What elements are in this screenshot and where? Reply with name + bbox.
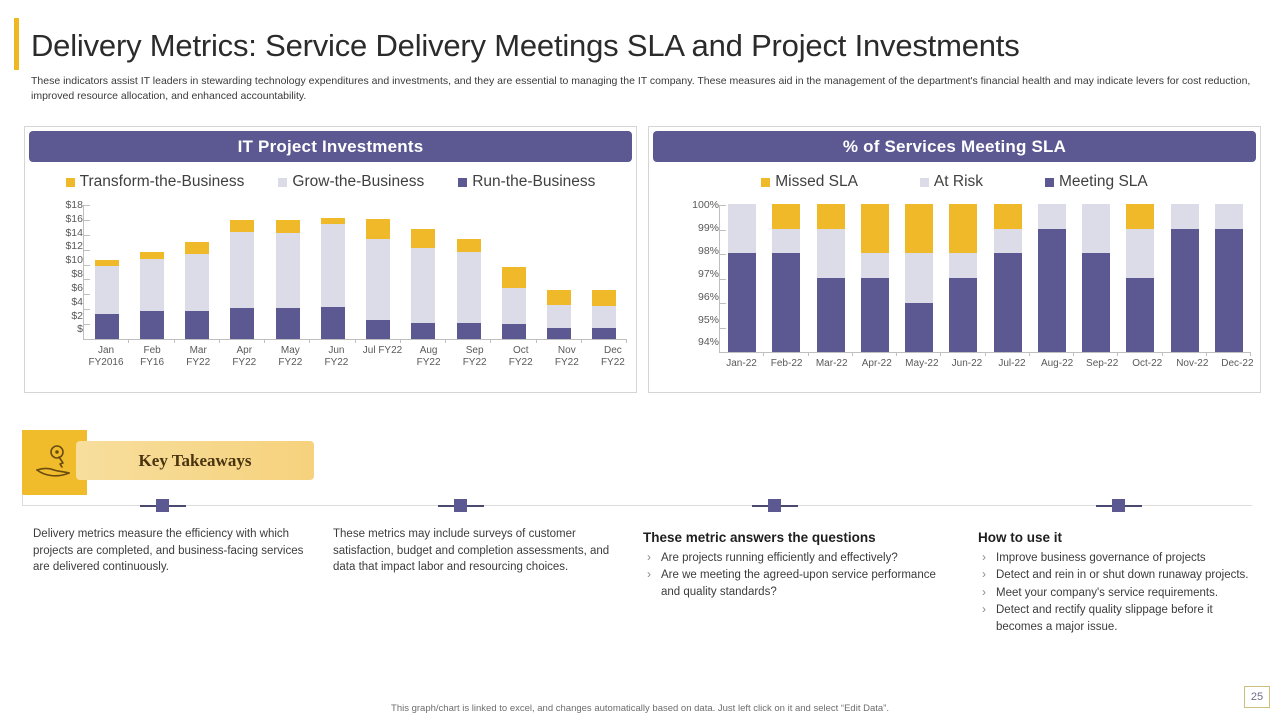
list-item: Meet your company's service requirements… — [978, 585, 1253, 602]
bar-slot — [582, 205, 627, 339]
bar-segment[interactable] — [817, 229, 845, 278]
bar-slot — [764, 205, 808, 352]
y-axis-tick-label: $4 — [71, 297, 83, 308]
bar-slot — [1030, 205, 1074, 352]
bar-segment[interactable] — [1082, 253, 1110, 352]
y-axis-tick-label: 98% — [698, 246, 719, 257]
stacked-bar[interactable] — [1082, 204, 1110, 352]
x-axis-tick-label: DecFY22 — [590, 345, 636, 369]
stacked-bar[interactable] — [185, 242, 209, 340]
stacked-bar[interactable] — [949, 204, 977, 352]
bar-segment[interactable] — [1215, 229, 1243, 352]
bar-slot — [941, 205, 985, 352]
bar-segment[interactable] — [1038, 229, 1066, 352]
bar-segment[interactable] — [994, 253, 1022, 352]
bar-slot — [265, 205, 310, 339]
bar-segment[interactable] — [861, 278, 889, 352]
bar-segment[interactable] — [1038, 204, 1066, 229]
timeline-rule-end-tick — [22, 494, 23, 506]
bar-slot — [1118, 205, 1162, 352]
bar-segment[interactable] — [366, 219, 390, 239]
takeaway-body-1: Delivery metrics measure the efficiency … — [33, 526, 313, 576]
y-axis-tick-label: 96% — [698, 291, 719, 302]
bar-segment[interactable] — [321, 224, 345, 307]
bar-segment[interactable] — [276, 220, 300, 233]
takeaway-heading-3: These metric answers the questions — [643, 530, 943, 547]
x-axis-tick-label: Jul-22 — [989, 358, 1034, 370]
x-axis-tick-label: MarFY22 — [175, 345, 221, 369]
stacked-bar[interactable] — [772, 204, 800, 352]
page-subtitle: These indicators assist IT leaders in st… — [31, 74, 1251, 104]
bar-segment[interactable] — [772, 204, 800, 229]
bar-slot — [310, 205, 355, 339]
bar-slot — [853, 205, 897, 352]
page-number-badge: 25 — [1244, 686, 1270, 708]
bars-container — [719, 205, 1251, 353]
x-axis-tick-label: AprFY22 — [221, 345, 267, 369]
chart-panel-services-meeting-sla: % of Services Meeting SLA Missed SLAAt R… — [648, 126, 1261, 393]
takeaway-body-2: These metrics may include surveys of cus… — [333, 526, 613, 576]
takeaway-column-3: These metric answers the questions Are p… — [643, 530, 943, 601]
bar-segment[interactable] — [994, 229, 1022, 254]
legend-item-transform-the-business: Transform-the-Business — [66, 173, 245, 191]
y-axis-tick-label: $14 — [65, 227, 83, 238]
bar-segment[interactable] — [728, 204, 756, 253]
x-axis-tick-label: JunFY22 — [313, 345, 359, 369]
takeaway-column-1: Delivery metrics measure the efficiency … — [33, 526, 313, 576]
stacked-bar[interactable] — [905, 204, 933, 352]
y-axis-tick-label: $18 — [65, 200, 83, 211]
bar-segment[interactable] — [230, 308, 254, 340]
bar-slot — [897, 205, 941, 352]
x-axis-tick-label: JanFY2016 — [83, 345, 129, 369]
stacked-bar[interactable] — [1038, 204, 1066, 352]
bar-segment[interactable] — [411, 248, 435, 323]
bar-segment[interactable] — [905, 253, 933, 302]
bar-segment[interactable] — [140, 311, 164, 340]
stacked-bar[interactable] — [95, 260, 119, 340]
bar-slot — [491, 205, 536, 339]
bar-segment[interactable] — [502, 288, 526, 324]
takeaway-column-2: These metrics may include surveys of cus… — [333, 526, 613, 576]
y-axis-tick-label: $2 — [71, 310, 83, 321]
x-axis-left: JanFY2016FebFY16MarFY22AprFY22MayFY22Jun… — [55, 345, 636, 369]
stacked-bar[interactable] — [861, 204, 889, 352]
bar-slot — [401, 205, 446, 339]
y-axis-tick-label: 99% — [698, 223, 719, 234]
y-axis-labels: $18$16$14$12$10$8$6$4$2$ — [55, 205, 83, 340]
stacked-bar[interactable] — [276, 220, 300, 339]
chart-title-left: IT Project Investments — [29, 131, 632, 162]
x-axis-tick-label: FebFY16 — [129, 345, 175, 369]
legend-swatch-icon — [66, 178, 75, 187]
bar-segment[interactable] — [905, 204, 933, 253]
y-axis-tick-label: $10 — [65, 255, 83, 266]
x-axis-tick-label: NovFY22 — [544, 345, 590, 369]
list-item: Detect and rein in or shut down runaway … — [978, 567, 1253, 584]
bar-segment[interactable] — [276, 233, 300, 308]
bar-segment[interactable] — [457, 252, 481, 323]
bar-slot — [809, 205, 853, 352]
x-axis-tick-label: May-22 — [899, 358, 944, 370]
bar-slot — [1207, 205, 1251, 352]
bar-segment[interactable] — [772, 229, 800, 254]
bar-segment[interactable] — [547, 328, 571, 339]
header-accent-bar — [14, 18, 19, 70]
legend-label: Run-the-Business — [472, 173, 595, 191]
x-axis-tick-label: Dec-22 — [1215, 358, 1260, 370]
bar-segment[interactable] — [592, 306, 616, 328]
bar-segment[interactable] — [411, 323, 435, 339]
legend-item-at-risk: At Risk — [920, 173, 983, 191]
bar-segment[interactable] — [366, 320, 390, 339]
stacked-bar[interactable] — [1171, 204, 1199, 352]
bar-segment[interactable] — [1126, 204, 1154, 229]
legend-label: At Risk — [934, 173, 983, 191]
stacked-bar[interactable] — [1215, 204, 1243, 352]
legend-item-missed-sla: Missed SLA — [761, 173, 858, 191]
bar-segment[interactable] — [276, 308, 300, 340]
bar-segment[interactable] — [861, 204, 889, 253]
bar-segment[interactable] — [1215, 204, 1243, 229]
y-axis-tick-label: $16 — [65, 214, 83, 225]
list-item: Improve business governance of projects — [978, 550, 1253, 567]
slide: Delivery Metrics: Service Delivery Meeti… — [0, 0, 1280, 720]
bar-segment[interactable] — [592, 290, 616, 306]
y-axis-tick-label: $8 — [71, 269, 83, 280]
takeaway-bullets-4: Improve business governance of projectsD… — [978, 550, 1253, 636]
stacked-bar[interactable] — [457, 239, 481, 339]
bar-segment[interactable] — [140, 259, 164, 311]
bar-slot — [356, 205, 401, 339]
stacked-bar[interactable] — [994, 204, 1022, 352]
x-axis-tick-label: MayFY22 — [267, 345, 313, 369]
bar-segment[interactable] — [1126, 229, 1154, 278]
x-axis-tick-label: OctFY22 — [498, 345, 544, 369]
bar-segment[interactable] — [230, 232, 254, 308]
legend-swatch-icon — [761, 178, 770, 187]
bar-segment[interactable] — [905, 303, 933, 352]
bar-slot — [175, 205, 220, 339]
bar-segment[interactable] — [772, 253, 800, 352]
list-item: Are we meeting the agreed-upon service p… — [643, 567, 943, 600]
stacked-bar[interactable] — [230, 220, 254, 339]
x-axis-tick-label: Mar-22 — [809, 358, 854, 370]
bar-segment[interactable] — [95, 266, 119, 313]
bar-segment[interactable] — [140, 252, 164, 259]
stacked-bar[interactable] — [1126, 204, 1154, 352]
stacked-bar[interactable] — [817, 204, 845, 352]
chart-title-right: % of Services Meeting SLA — [653, 131, 1256, 162]
legend-item-run-the-business: Run-the-Business — [458, 173, 595, 191]
page-title: Delivery Metrics: Service Delivery Meeti… — [31, 28, 1020, 64]
legend-swatch-icon — [278, 178, 287, 187]
bar-segment[interactable] — [728, 253, 756, 352]
bar-segment[interactable] — [95, 314, 119, 340]
x-axis-tick-label: Feb-22 — [764, 358, 809, 370]
list-item: Are projects running efficiently and eff… — [643, 550, 943, 567]
legend-item-grow-the-business: Grow-the-Business — [278, 173, 424, 191]
y-axis-tick-label: $12 — [65, 241, 83, 252]
x-axis-tick-label: Jun-22 — [944, 358, 989, 370]
bar-slot — [220, 205, 265, 339]
stacked-bar[interactable] — [321, 218, 345, 340]
legend-item-meeting-sla: Meeting SLA — [1045, 173, 1148, 191]
x-axis-tick-label: Jan-22 — [719, 358, 764, 370]
list-item: Detect and rectify quality slippage befo… — [978, 602, 1253, 635]
bar-segment[interactable] — [547, 290, 571, 305]
bar-segment[interactable] — [1171, 204, 1199, 229]
bars-container — [83, 205, 627, 340]
bar-segment[interactable] — [861, 253, 889, 278]
bar-segment[interactable] — [457, 323, 481, 339]
bar-slot — [1163, 205, 1207, 352]
bar-segment[interactable] — [185, 254, 209, 311]
takeaway-column-4: How to use it Improve business governanc… — [978, 530, 1253, 636]
hand-holding-key-icon — [33, 443, 77, 483]
bar-slot — [84, 205, 129, 339]
stacked-bar[interactable] — [366, 219, 390, 339]
y-axis-tick — [84, 339, 90, 340]
legend-swatch-icon — [458, 178, 467, 187]
x-axis-tick-label: Oct-22 — [1125, 358, 1170, 370]
bar-segment[interactable] — [949, 278, 977, 352]
takeaway-bullets-3: Are projects running efficiently and eff… — [643, 550, 943, 601]
bar-segment[interactable] — [817, 278, 845, 352]
stacked-bar[interactable] — [728, 204, 756, 352]
x-axis-tick-label: SepFY22 — [452, 345, 498, 369]
y-axis-tick-label: 95% — [698, 314, 719, 325]
bar-slot — [986, 205, 1030, 352]
legend-label: Grow-the-Business — [292, 173, 424, 191]
bar-segment[interactable] — [994, 204, 1022, 229]
bar-segment[interactable] — [321, 307, 345, 339]
plot-area-left: $18$16$14$12$10$8$6$4$2$ — [55, 205, 627, 340]
y-axis-tick-label: $6 — [71, 283, 83, 294]
bar-segment[interactable] — [502, 267, 526, 288]
bar-segment[interactable] — [185, 242, 209, 254]
x-axis-tick-label: Sep-22 — [1080, 358, 1125, 370]
timeline-rule — [22, 505, 1252, 506]
bar-segment[interactable] — [1171, 229, 1199, 352]
key-takeaways-badge: Key Takeaways — [76, 441, 314, 480]
x-axis-tick-label: Jul FY22 — [359, 345, 405, 369]
bar-segment[interactable] — [457, 239, 481, 252]
slide-header: Delivery Metrics: Service Delivery Meeti… — [0, 12, 1280, 97]
stacked-bar[interactable] — [140, 252, 164, 339]
bar-slot — [720, 205, 764, 352]
stacked-bar[interactable] — [547, 290, 571, 339]
y-axis-tick — [720, 352, 726, 353]
bar-segment[interactable] — [185, 311, 209, 340]
y-axis-tick-label: 94% — [698, 337, 719, 348]
chart-legend-right: Missed SLAAt RiskMeeting SLA — [649, 173, 1260, 191]
footer-note: This graph/chart is linked to excel, and… — [0, 703, 1280, 714]
legend-label: Missed SLA — [775, 173, 858, 191]
legend-swatch-icon — [1045, 178, 1054, 187]
bar-slot — [537, 205, 582, 339]
y-axis-tick-label: 100% — [692, 200, 719, 211]
bar-slot — [446, 205, 491, 339]
bar-segment[interactable] — [547, 305, 571, 328]
x-axis-tick-label: Nov-22 — [1170, 358, 1215, 370]
bar-segment[interactable] — [592, 328, 616, 339]
bar-segment[interactable] — [95, 260, 119, 267]
bar-segment[interactable] — [411, 229, 435, 249]
chart-legend-left: Transform-the-BusinessGrow-the-BusinessR… — [25, 173, 636, 191]
x-axis-right: Jan-22Feb-22Mar-22Apr-22May-22Jun-22Jul-… — [685, 358, 1260, 370]
y-axis-tick-label: 97% — [698, 268, 719, 279]
bar-segment[interactable] — [949, 204, 977, 253]
bar-segment[interactable] — [1126, 278, 1154, 352]
bar-segment[interactable] — [949, 253, 977, 278]
stacked-bar[interactable] — [411, 229, 435, 339]
stacked-bar[interactable] — [592, 290, 616, 339]
bar-segment[interactable] — [230, 220, 254, 232]
legend-label: Meeting SLA — [1059, 173, 1148, 191]
y-axis-labels: 100%99%98%97%96%95%94% — [685, 205, 719, 353]
bar-segment[interactable] — [366, 239, 390, 321]
bar-segment[interactable] — [502, 324, 526, 339]
x-axis-tick-label: Aug-22 — [1035, 358, 1080, 370]
bar-segment[interactable] — [1082, 204, 1110, 253]
legend-label: Transform-the-Business — [80, 173, 245, 191]
x-axis-tick-label: Apr-22 — [854, 358, 899, 370]
bar-segment[interactable] — [817, 204, 845, 229]
bar-slot — [1074, 205, 1118, 352]
takeaway-heading-4: How to use it — [978, 530, 1253, 547]
plot-area-right: 100%99%98%97%96%95%94% — [685, 205, 1251, 353]
bar-slot — [129, 205, 174, 339]
x-axis-tick-label: AugFY22 — [406, 345, 452, 369]
stacked-bar[interactable] — [502, 267, 526, 339]
chart-panel-it-project-investments: IT Project Investments Transform-the-Bus… — [24, 126, 637, 393]
legend-swatch-icon — [920, 178, 929, 187]
